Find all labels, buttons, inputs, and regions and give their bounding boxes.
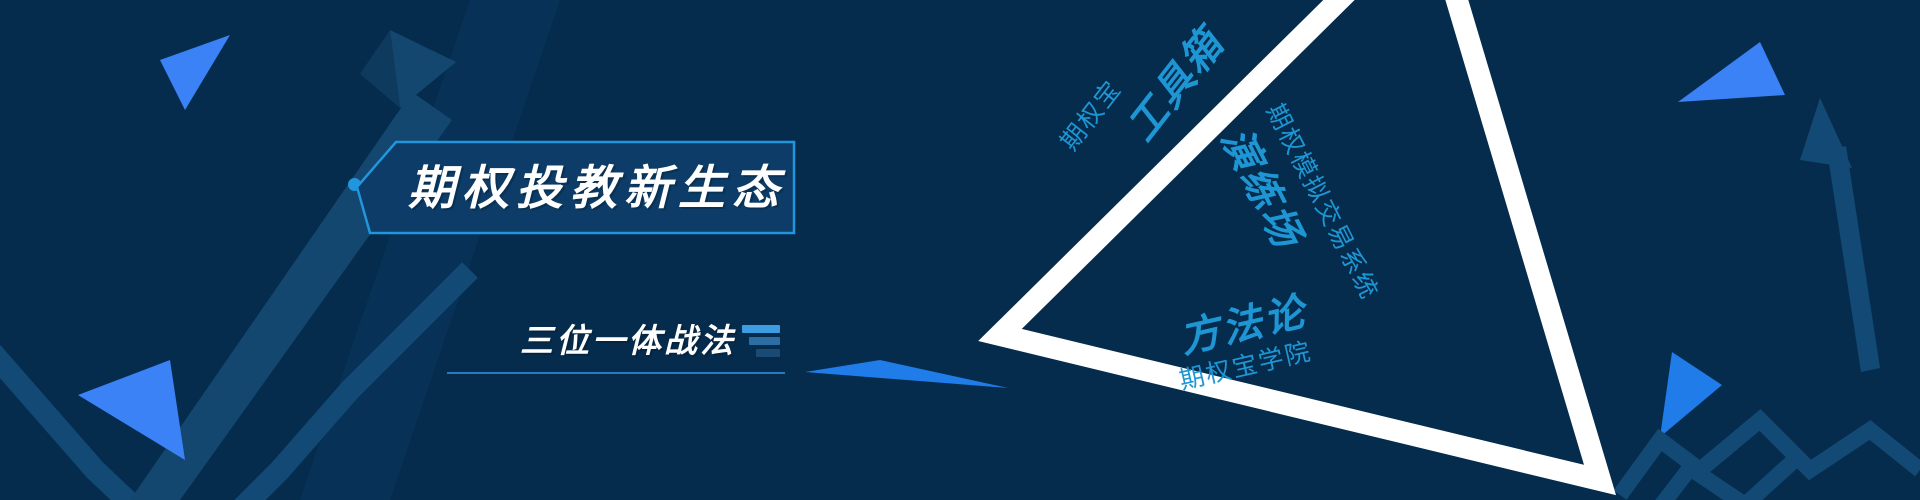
bar-2: [749, 337, 780, 345]
subtitle-block: 三位一体战法: [440, 318, 800, 388]
bar-3: [756, 349, 780, 357]
subtitle-underline: [447, 372, 785, 374]
three-bars-icon: [740, 325, 780, 359]
promo-banner: 期权投教新生态 三位一体战法 期权宝 工具箱 期权模拟交易系统 演练场 方法论 …: [0, 0, 1920, 500]
subtitle: 三位一体战法: [520, 318, 736, 364]
page-title: 期权投教新生态: [408, 148, 786, 228]
strategy-triangle: [0, 0, 1920, 500]
bar-1: [742, 325, 780, 333]
headline-block: 期权投教新生态: [356, 140, 796, 235]
